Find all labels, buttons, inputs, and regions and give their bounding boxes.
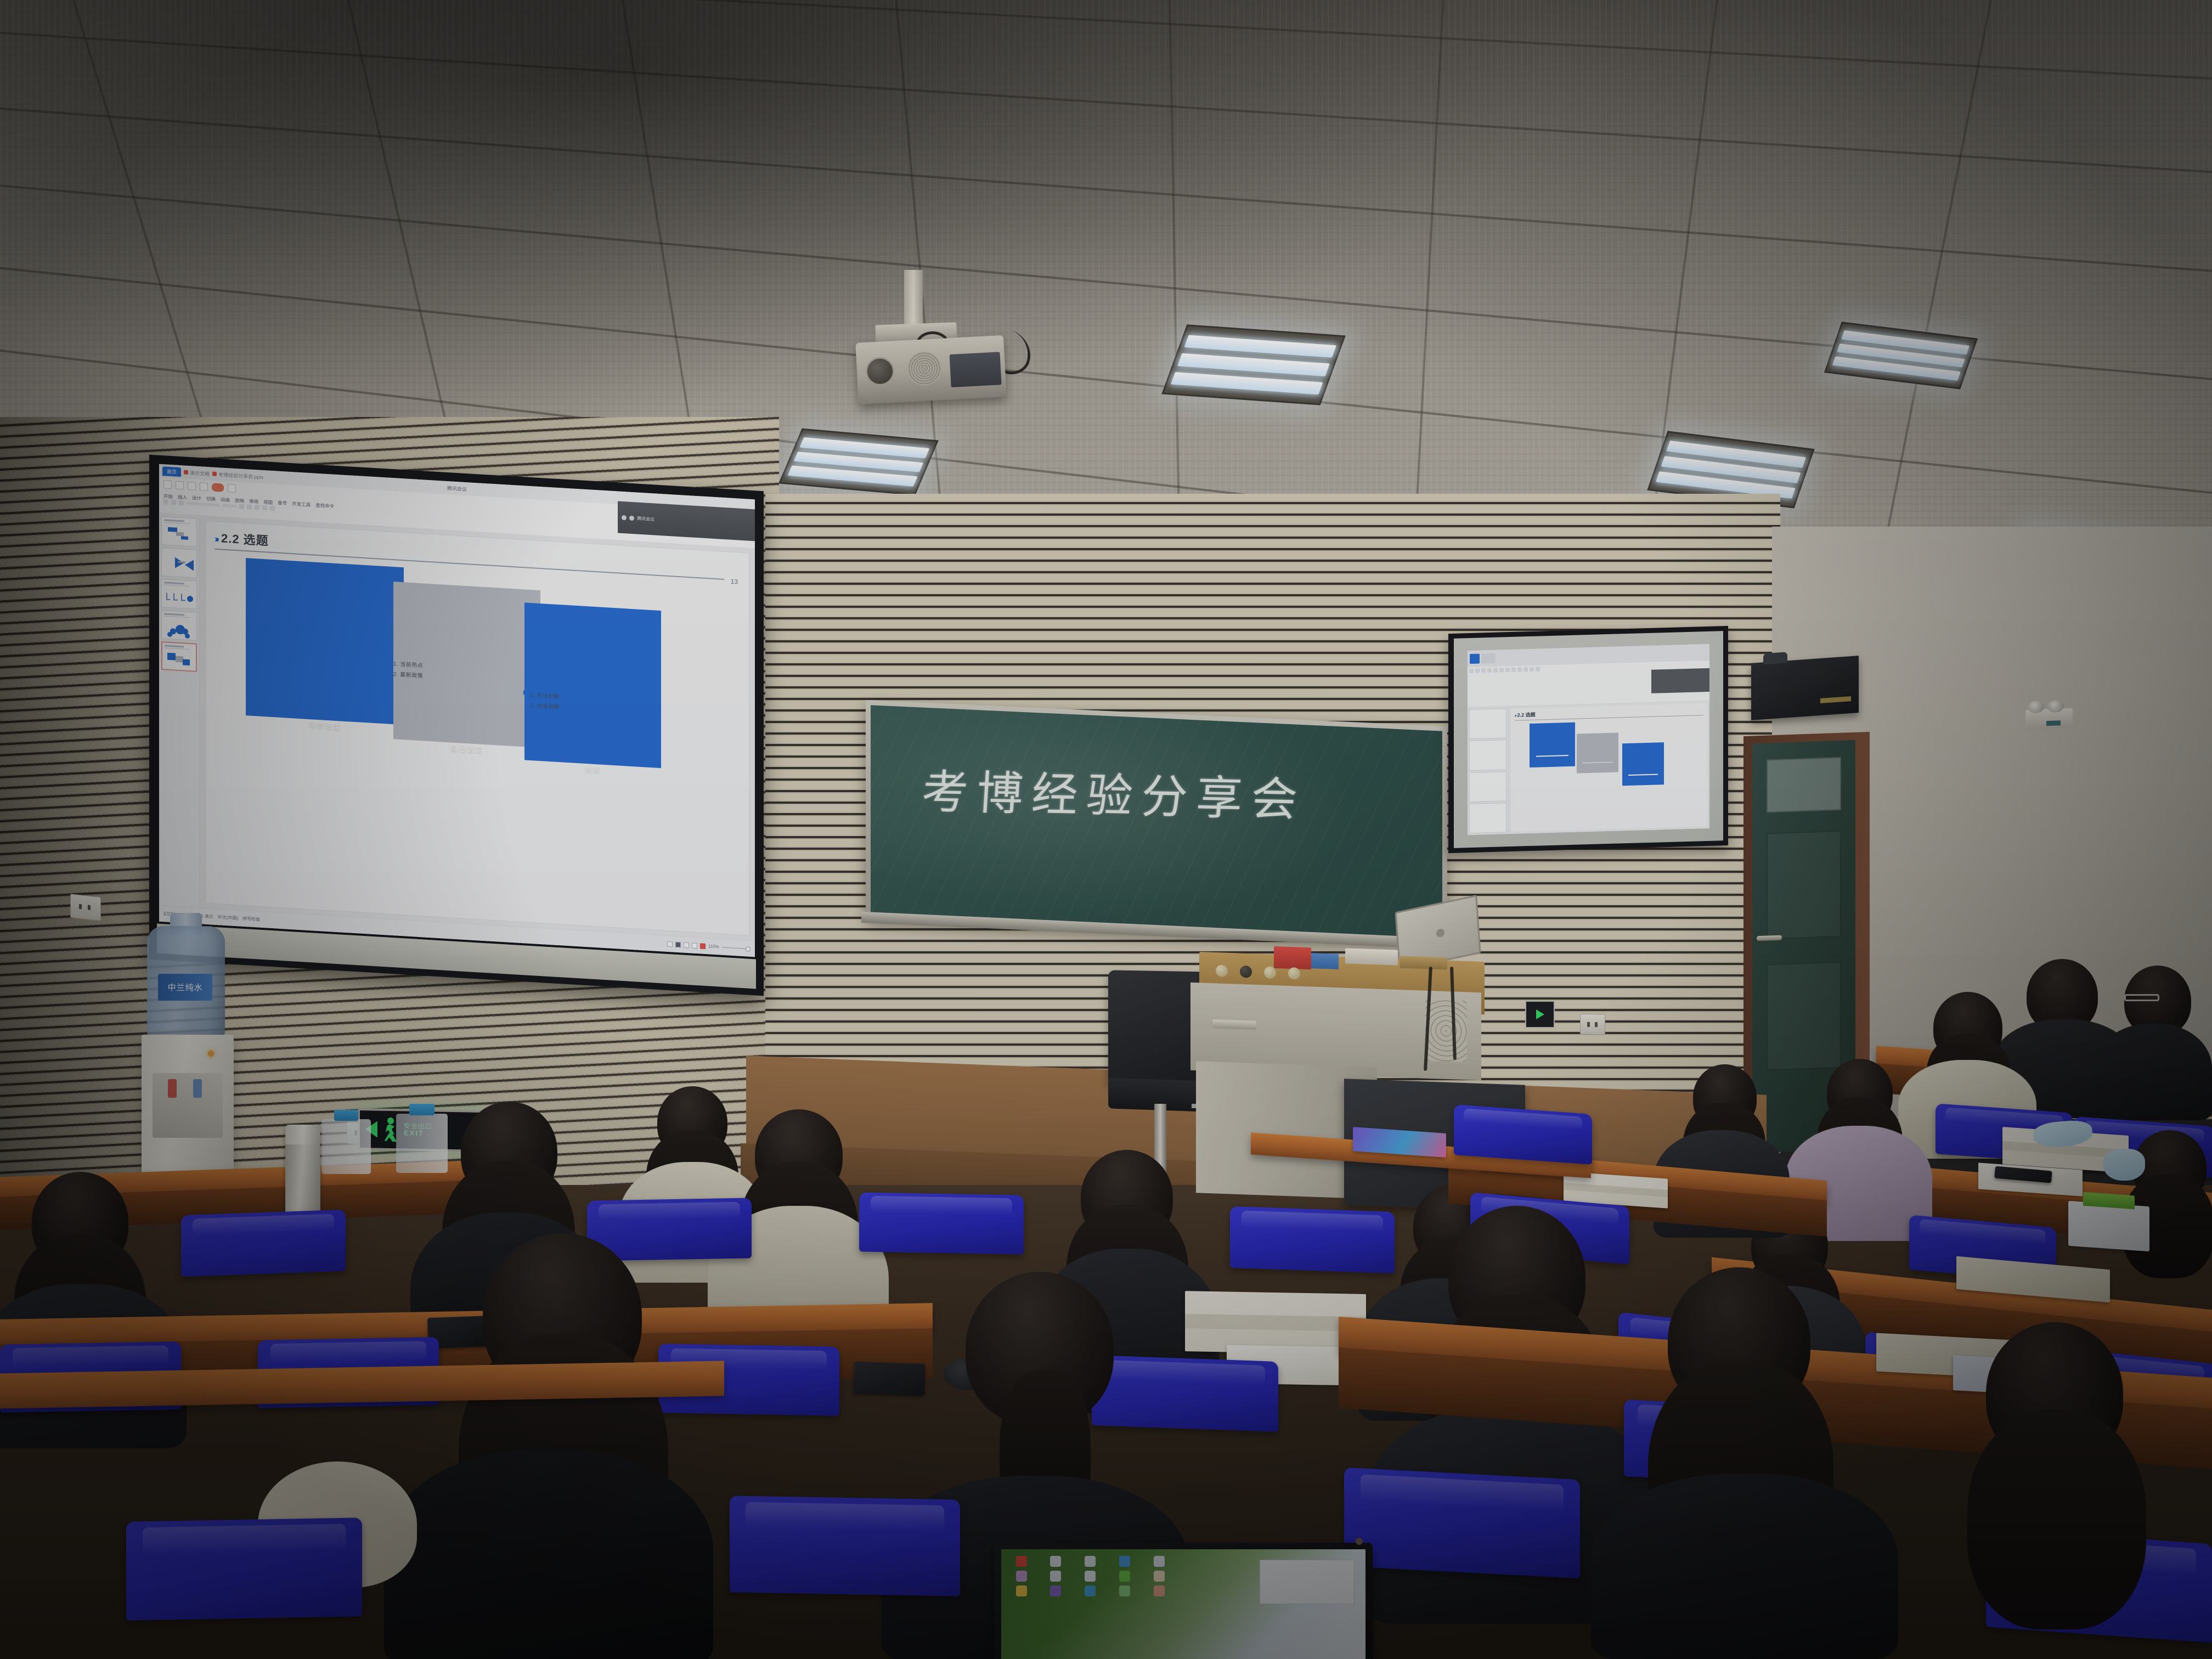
- chevron-right-icon: ›››: [215, 534, 217, 545]
- water-bottle-plastic[interactable]: [396, 1114, 448, 1173]
- insert-icon[interactable]: [228, 484, 236, 493]
- seat-cushion-foreground: [126, 1517, 362, 1621]
- laptop-logo: [1436, 928, 1445, 938]
- seat-cushion: [1092, 1355, 1278, 1432]
- menu-item-view[interactable]: 视图: [263, 499, 273, 506]
- slide-thumbnail-current[interactable]: [161, 641, 197, 672]
- chevron-right-icon-mirror: ›››: [1515, 713, 1516, 718]
- emergency-light: [2025, 708, 2073, 729]
- chalkboard-surface: 考博经验分享会: [871, 705, 1442, 940]
- speaker-logo: [1820, 696, 1851, 703]
- telegram-icon[interactable]: [1085, 1585, 1096, 1596]
- hot-water-tap[interactable]: [168, 1079, 177, 1098]
- media-player-icon[interactable]: [1050, 1585, 1061, 1596]
- folder-icon[interactable]: [1085, 1571, 1096, 1582]
- dispenser-panel: [153, 1073, 223, 1138]
- meeting-status-label: 腾讯会议: [637, 515, 654, 522]
- emergency-lamp-icon: [2047, 700, 2064, 713]
- speaker-bracket: [1763, 652, 1787, 664]
- menu-item-insert[interactable]: 插入: [178, 494, 187, 501]
- align-left-icon[interactable]: [239, 504, 244, 509]
- undo-icon[interactable]: [176, 481, 184, 490]
- tab-doc-mirror[interactable]: [1481, 653, 1496, 663]
- redo-icon[interactable]: [188, 482, 196, 490]
- projector-vent: [906, 351, 942, 386]
- align-center-icon[interactable]: [247, 504, 252, 510]
- slide-bullets-innovation: 1. 方法创新 2. 内容创新: [530, 690, 560, 713]
- projector-ports: [950, 352, 1002, 387]
- bottle-cap: [334, 1110, 358, 1121]
- word-doc-icon[interactable]: [1050, 1556, 1061, 1567]
- zoom-level: 115%: [708, 944, 719, 949]
- slideshow-button[interactable]: [212, 483, 224, 492]
- podium-knob[interactable]: [1288, 967, 1300, 980]
- spellcheck-label: 拼写检查: [242, 916, 260, 923]
- wechat-icon[interactable]: [1119, 1571, 1130, 1582]
- projected-image-secondary: ››› 2.2 选题: [1454, 631, 1723, 848]
- slide-number: 13: [731, 578, 738, 586]
- slide-blocks: 导师选定 自己选定 创新: [215, 556, 740, 669]
- shape-icon[interactable]: [262, 505, 267, 511]
- blackboard-eraser[interactable]: [1400, 956, 1447, 969]
- menu-item-start[interactable]: 开始: [163, 493, 173, 500]
- water-bottle-plastic[interactable]: [321, 1119, 371, 1174]
- app-icon[interactable]: [1119, 1585, 1130, 1596]
- podium-knob[interactable]: [1216, 964, 1228, 977]
- slide-thumbnail[interactable]: [161, 516, 197, 547]
- door-handle[interactable]: [1757, 935, 1782, 941]
- eyeglasses-icon: [2124, 994, 2159, 1001]
- tissue-sheet: [2083, 1192, 2135, 1209]
- zoom-slider[interactable]: [722, 946, 751, 949]
- chalkboard-text: 考博经验分享会: [920, 755, 1404, 832]
- tissue-box[interactable]: [2068, 1201, 2149, 1251]
- student-hair-foreground: [1967, 1410, 2146, 1629]
- meeting-toolbar-mirror: [1651, 668, 1709, 693]
- slide-thumbnail-panel[interactable]: [159, 513, 200, 907]
- menu-item-developer[interactable]: 开发工具: [292, 500, 311, 508]
- slide-thumbnail[interactable]: [161, 548, 197, 578]
- bullet-list-icon[interactable]: [255, 505, 259, 510]
- tab-home-mirror[interactable]: [1470, 653, 1480, 664]
- projected-image: 首页 演示文稿 考博经验分享会.pptx 腾讯会议: [159, 464, 755, 957]
- face-mask: [2103, 1149, 2145, 1181]
- projector-mount-pole: [904, 270, 923, 327]
- menu-item-slideshow[interactable]: 放映: [235, 497, 244, 504]
- slide-title-mirror: 2.2 选题: [1517, 711, 1536, 719]
- door-window: [1767, 757, 1841, 813]
- water-bottle: 中兰纯水: [147, 926, 225, 1039]
- app-icon[interactable]: [1154, 1585, 1165, 1596]
- wall-socket[interactable]: [70, 894, 101, 921]
- wps-icon[interactable]: [1016, 1585, 1027, 1596]
- slide-block-innovation: 创新: [524, 602, 661, 768]
- current-slide-mirror: ››› 2.2 选题: [1511, 703, 1708, 832]
- chalk-box[interactable]: [1274, 946, 1311, 969]
- student-torso-foreground: [384, 1449, 713, 1659]
- seat-cushion: [1454, 1104, 1592, 1165]
- word-doc-icon[interactable]: [1085, 1556, 1096, 1567]
- wall-socket[interactable]: [1580, 1014, 1605, 1035]
- emergency-lamp-icon: [2028, 701, 2044, 713]
- bullet-flag-icon: [523, 690, 528, 696]
- emergency-light-label: [2046, 720, 2061, 726]
- student-torso: [2095, 1024, 2212, 1120]
- blackboard-eraser[interactable]: [1345, 948, 1398, 965]
- slide-block-innovation-mirror: [1622, 742, 1664, 786]
- microphone-icon[interactable]: [622, 515, 627, 520]
- view-reading-icon[interactable]: [684, 942, 689, 948]
- view-normal-icon[interactable]: [667, 941, 673, 947]
- word-doc-icon[interactable]: [1050, 1571, 1061, 1582]
- slide-thumbnail[interactable]: [161, 610, 197, 641]
- door-panel: [1767, 962, 1841, 1071]
- seat-cushion: [1230, 1206, 1395, 1273]
- podium-knob[interactable]: [1240, 966, 1252, 978]
- font-selector[interactable]: [187, 502, 219, 507]
- bullet-item: 2. 最新政策: [393, 669, 424, 682]
- note-app-icon[interactable]: [1154, 1571, 1165, 1582]
- underline-icon[interactable]: [179, 500, 184, 506]
- word-doc-icon[interactable]: [1154, 1556, 1165, 1567]
- font-size-selector[interactable]: [222, 504, 236, 508]
- slide-thumbnail-panel-mirror[interactable]: [1468, 707, 1509, 835]
- seat-cushion-foreground: [730, 1496, 960, 1596]
- chalk-box[interactable]: [1311, 953, 1339, 969]
- slide-canvas-mirror: ››› 2.2 选题: [1509, 701, 1710, 834]
- pdf-reader-icon[interactable]: [1016, 1556, 1027, 1567]
- bullet-flag-icon: [387, 659, 392, 664]
- menu-item-section[interactable]: 章节: [278, 500, 287, 507]
- bullet-item: 2. 内容创新: [530, 701, 560, 713]
- save-icon[interactable]: [163, 480, 172, 489]
- italic-icon[interactable]: [171, 500, 176, 505]
- webcam-icon: [1356, 1538, 1363, 1545]
- seat-cushion-foreground: [1344, 1468, 1580, 1579]
- bold-icon[interactable]: [163, 499, 168, 505]
- image-file-icon[interactable]: [1016, 1571, 1027, 1582]
- open-window[interactable]: [1260, 1560, 1355, 1604]
- projection-screen-secondary: ››› 2.2 选题: [1448, 626, 1728, 853]
- slide-canvas[interactable]: ››› 2.2 选题 13 导师选定: [200, 516, 755, 940]
- door-panel: [1767, 831, 1841, 940]
- camera-icon[interactable]: [629, 515, 634, 521]
- projector: [855, 335, 1006, 404]
- wps-presentation-window: 首页 演示文稿 考博经验分享会.pptx 腾讯会议: [159, 464, 755, 957]
- podium-card-slot[interactable]: [1212, 1019, 1256, 1030]
- student-torso-foreground: [1591, 1474, 1898, 1659]
- browser-icon[interactable]: [1119, 1556, 1130, 1567]
- thermos-cap: [285, 1125, 320, 1144]
- desktop-icons[interactable]: [1016, 1556, 1183, 1596]
- slide-bullets-self: 1. 当前热点 2. 最新政策: [393, 659, 424, 682]
- water-dispenser[interactable]: [142, 1035, 234, 1182]
- projector-lens-icon: [865, 357, 895, 387]
- search-icon[interactable]: 查找命令: [315, 502, 334, 510]
- wall-speaker: [1751, 656, 1859, 720]
- text-color-icon[interactable]: [270, 506, 275, 511]
- menu-item-review[interactable]: 审阅: [249, 498, 258, 505]
- power-indicator-icon: [208, 1051, 214, 1057]
- menu-item-transition[interactable]: 切换: [206, 495, 216, 503]
- chalkboard: 考博经验分享会: [866, 700, 1447, 946]
- view-sorter-icon[interactable]: [675, 941, 681, 947]
- laptop-desktop[interactable]: [1001, 1549, 1365, 1659]
- classroom-photo: 首页 演示文稿 考博经验分享会.pptx 腾讯会议: [0, 0, 2212, 1659]
- editor-body-mirror: ››› 2.2 选题: [1468, 701, 1710, 835]
- student-laptop[interactable]: [994, 1543, 1373, 1659]
- status-right[interactable]: 115%: [667, 941, 751, 951]
- current-slide: ››› 2.2 选题 13 导师选定: [205, 521, 749, 936]
- editor-body: ››› 2.2 选题 13 导师选定: [159, 513, 755, 941]
- seat-cushion: [859, 1192, 1024, 1254]
- slide-title: 2.2 选题: [221, 529, 269, 549]
- slide-block-advisor-mirror: [1530, 723, 1575, 768]
- slide-block-advisor: 导师选定: [246, 558, 403, 725]
- slide-thumbnail[interactable]: [161, 579, 197, 610]
- wps-window-mirror: ››› 2.2 选题: [1468, 644, 1710, 835]
- projection-screen-main: 首页 演示文稿 考博经验分享会.pptx 腾讯会议: [149, 455, 764, 996]
- smartphone[interactable]: [853, 1362, 926, 1396]
- present-icon[interactable]: [700, 943, 706, 949]
- menu-item-design[interactable]: 设计: [192, 494, 201, 501]
- language-label: 中文(中国): [218, 914, 238, 921]
- podium-knob[interactable]: [1264, 966, 1276, 979]
- bottle-cap: [409, 1104, 434, 1116]
- cold-water-tap[interactable]: [193, 1079, 202, 1098]
- podium-speaker-grille: [1425, 1000, 1467, 1063]
- slide-block-self-mirror: [1577, 732, 1618, 773]
- exit-arrow-sign-small: [1525, 1001, 1555, 1028]
- seat-cushion: [181, 1210, 346, 1277]
- menu-item-animation[interactable]: 动画: [221, 496, 230, 503]
- print-icon[interactable]: [200, 482, 208, 491]
- view-notes-icon[interactable]: [692, 943, 697, 949]
- water-brand-label: 中兰纯水: [158, 974, 212, 1001]
